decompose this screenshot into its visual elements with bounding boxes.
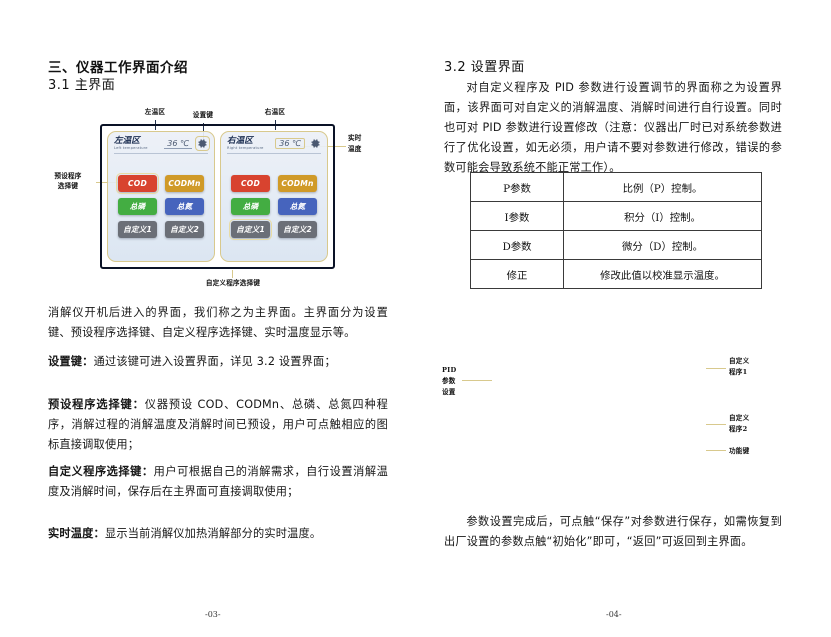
section-heading: 三、仪器工作界面介绍 <box>48 56 188 76</box>
program-button-custom1-right[interactable]: 自定义1 <box>231 221 270 238</box>
page-number-left: -03- <box>205 610 221 619</box>
paragraph-settings-key: 设置键：通过该键可进入设置界面，详见 3.2 设置界面； <box>48 352 388 372</box>
right-zone-temperature-readout: 36 ℃ <box>275 138 305 149</box>
leader-custom2 <box>706 424 726 425</box>
term-custom-program: 自定义程序选择键： <box>48 465 154 478</box>
table-row: 修正 修改此值以校准显示温度。 <box>471 260 762 289</box>
param-key-p: P参数 <box>471 173 564 202</box>
left-zone-subtitle: Left temperature <box>114 146 148 150</box>
device-main-interface-screenshot: 左温区 Left temperature 36 ℃ COD CODMn 总磷 总… <box>100 124 335 269</box>
callout-pid-line3: 设置 <box>442 388 456 398</box>
program-button-codmn-right[interactable]: CODMn <box>278 175 317 192</box>
callout-realtime-temp-line2: 温度 <box>348 145 362 155</box>
left-zone-temperature-readout: 36 ℃ <box>164 139 192 149</box>
callout-realtime-temp-line1: 实时 <box>348 134 362 144</box>
right-zone-subtitle: Right temperature <box>227 146 264 150</box>
subsection-heading-3-1: 3.1 主界面 <box>48 74 115 93</box>
callout-pid-line2: 参数 <box>442 377 456 387</box>
term-preset-program: 预设程序选择键： <box>48 398 145 411</box>
leader-pid <box>462 380 492 381</box>
term-settings-key: 设置键： <box>48 355 94 368</box>
term-realtime-temp: 实时温度： <box>48 527 105 540</box>
desc-realtime-temp: 显示当前消解仪加热消解部分的实时温度。 <box>105 527 321 540</box>
paragraph-main-interface-intro: 消解仪开机后进入的界面，我们称之为主界面。主界面分为设置键、预设程序选择键、自定… <box>48 303 388 343</box>
param-desc-p: 比例（P）控制。 <box>564 173 762 202</box>
right-page: 3.2 设置界面 对自定义程序及 PID 参数进行设置调节的界面称之为设置界面，… <box>416 0 831 637</box>
paragraph-preset-program: 预设程序选择键：仪器预设 COD、CODMn、总磷、总氮四种程序，消解过程的消解… <box>48 395 388 455</box>
table-row: D参数 微分（D）控制。 <box>471 231 762 260</box>
left-zone-name: 左温区 <box>114 137 148 146</box>
callout-pid-line1: PID <box>442 366 456 376</box>
callout-custom1-line1: 自定义 <box>729 357 749 367</box>
right-zone-header: 右温区 Right temperature 36 ℃ <box>227 137 321 154</box>
program-button-total-nitrogen-right[interactable]: 总氮 <box>278 198 317 215</box>
table-row: P参数 比例（P）控制。 <box>471 173 762 202</box>
left-zone-program-buttons: COD CODMn 总磷 总氮 自定义1 自定义2 <box>114 154 208 257</box>
right-zone-name: 右温区 <box>227 137 264 146</box>
param-desc-i: 积分（I）控制。 <box>564 202 762 231</box>
program-button-total-nitrogen-left[interactable]: 总氮 <box>165 198 204 215</box>
callout-left-zone: 左温区 <box>134 108 176 118</box>
subsection-heading-3-2: 3.2 设置界面 <box>444 56 525 75</box>
program-button-codmn-left[interactable]: CODMn <box>165 175 204 192</box>
program-button-cod-right[interactable]: COD <box>231 175 270 192</box>
paragraph-settings-closing: 参数设置完成后，可点触“保存”对参数进行保存，如需恢复到出厂设置的参数点触“初始… <box>444 512 782 552</box>
leader-function-keys <box>706 450 726 451</box>
param-key-i: I参数 <box>471 202 564 231</box>
gear-icon[interactable] <box>197 138 208 149</box>
right-zone-program-buttons: COD CODMn 总磷 总氮 自定义1 自定义2 <box>227 154 321 257</box>
paragraph-custom-program: 自定义程序选择键：用户可根据自己的消解需求，自行设置消解温度及消解时间，保存后在… <box>48 462 388 502</box>
manual-page-spread: 三、仪器工作界面介绍 3.1 主界面 左温区 设置键 右温区 实时 温度 预设程… <box>0 0 831 637</box>
leader-custom1 <box>706 368 726 369</box>
param-desc-correction: 修改此值以校准显示温度。 <box>564 260 762 289</box>
param-desc-d: 微分（D）控制。 <box>564 231 762 260</box>
device-right-zone-pane[interactable]: 右温区 Right temperature 36 ℃ COD CODMn 总磷 … <box>220 131 328 262</box>
callout-preset-program-line1: 预设程序 <box>42 172 94 182</box>
program-button-total-phosphorus-right[interactable]: 总磷 <box>231 198 270 215</box>
param-key-d: D参数 <box>471 231 564 260</box>
callout-custom-program: 自定义程序选择键 <box>192 279 274 289</box>
program-button-custom2-right[interactable]: 自定义2 <box>278 221 317 238</box>
page-number-right: -04- <box>606 610 622 619</box>
desc-settings-key: 通过该键可进入设置界面，详见 3.2 设置界面； <box>94 355 336 368</box>
gear-icon[interactable] <box>310 138 321 149</box>
left-page: 三、仪器工作界面介绍 3.1 主界面 左温区 设置键 右温区 实时 温度 预设程… <box>0 0 416 637</box>
pid-parameter-table: P参数 比例（P）控制。 I参数 积分（I）控制。 D参数 微分（D）控制。 修… <box>470 172 762 289</box>
callout-function-keys: 功能键 <box>729 447 749 457</box>
device-left-zone-pane[interactable]: 左温区 Left temperature 36 ℃ COD CODMn 总磷 总… <box>107 131 215 262</box>
param-key-correction: 修正 <box>471 260 564 289</box>
table-row: I参数 积分（I）控制。 <box>471 202 762 231</box>
program-button-cod-left[interactable]: COD <box>118 175 157 192</box>
callout-settings-key: 设置键 <box>186 111 220 121</box>
callout-custom1-line2: 程序1 <box>729 368 747 378</box>
paragraph-realtime-temp: 实时温度：显示当前消解仪加热消解部分的实时温度。 <box>48 524 388 544</box>
callout-preset-program-line2: 选择键 <box>42 182 94 192</box>
callout-right-zone: 右温区 <box>254 108 296 118</box>
callout-custom2-line2: 程序2 <box>729 425 747 435</box>
callout-custom2-line1: 自定义 <box>729 414 749 424</box>
program-button-custom1-left[interactable]: 自定义1 <box>118 221 157 238</box>
left-zone-header: 左温区 Left temperature 36 ℃ <box>114 137 208 154</box>
leader-custom-program <box>232 270 233 278</box>
program-button-custom2-left[interactable]: 自定义2 <box>165 221 204 238</box>
program-button-total-phosphorus-left[interactable]: 总磷 <box>118 198 157 215</box>
paragraph-settings-intro: 对自定义程序及 PID 参数进行设置调节的界面称之为设置界面，该界面可对自定义的… <box>444 78 782 178</box>
